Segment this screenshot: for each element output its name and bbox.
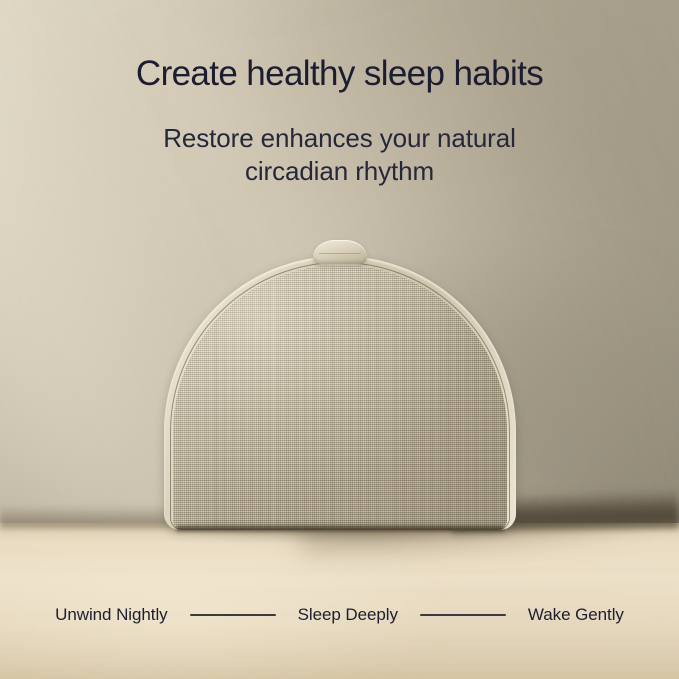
sleep-cycle-steps: Unwind Nightly Sleep Deeply Wake Gently bbox=[0, 600, 679, 630]
page-subtitle: Restore enhances your natural circadian … bbox=[0, 122, 679, 188]
product-device bbox=[164, 240, 516, 530]
wood-grain-line bbox=[0, 550, 407, 552]
step-label-unwind-nightly: Unwind Nightly bbox=[55, 605, 167, 625]
knob-seam bbox=[319, 253, 361, 254]
wood-grain-line bbox=[0, 654, 679, 657]
product-hero-image: Create healthy sleep habits Restore enha… bbox=[0, 0, 679, 679]
step-connector-rule-2 bbox=[420, 614, 506, 615]
step-connector-rule-1 bbox=[190, 614, 276, 615]
wood-grain-line bbox=[122, 591, 624, 593]
step-label-wake-gently: Wake Gently bbox=[528, 605, 624, 625]
device-metal-rim bbox=[164, 256, 516, 530]
step-label-sleep-deeply: Sleep Deeply bbox=[298, 605, 398, 625]
page-subtitle-line-1: Restore enhances your natural bbox=[0, 122, 679, 155]
page-subtitle-line-2: circadian rhythm bbox=[0, 155, 679, 188]
wood-grain-line bbox=[0, 569, 679, 573]
wood-grain-line bbox=[0, 635, 367, 637]
device-top-knob bbox=[313, 240, 367, 264]
page-title: Create healthy sleep habits bbox=[0, 54, 679, 93]
device-base-ambient-shadow bbox=[164, 528, 516, 542]
device-rim-inner-seam bbox=[170, 262, 510, 530]
